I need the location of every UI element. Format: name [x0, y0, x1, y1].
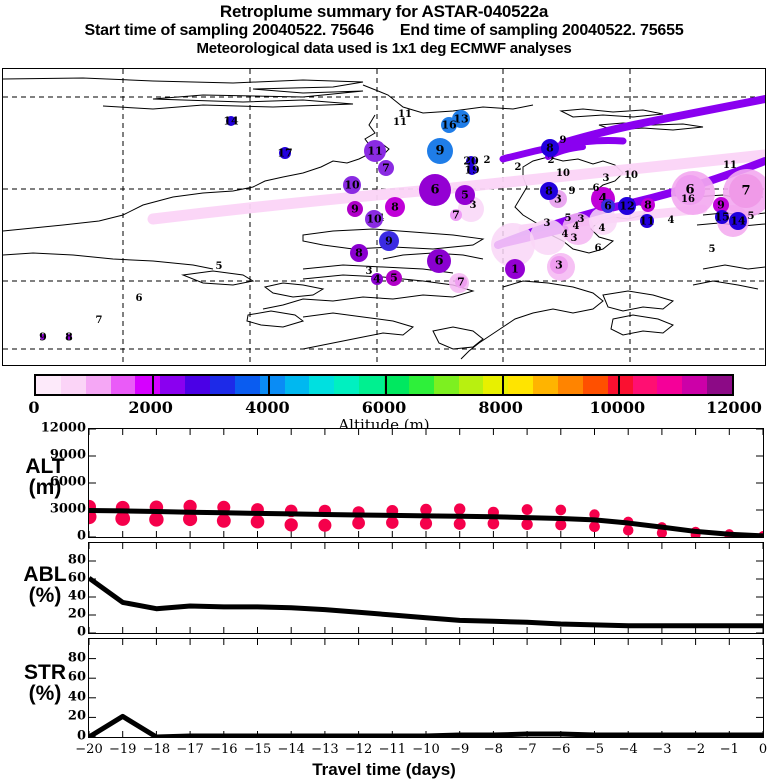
plume-marker-label: 16	[441, 120, 456, 131]
colorbar-segment	[111, 376, 136, 394]
y-axis-tick-label: 0	[77, 529, 86, 544]
plume-marker-label: 9	[717, 200, 725, 211]
colorbar-tick-label: 10000	[589, 398, 645, 417]
colorbar-segment	[533, 376, 558, 394]
plume-marker-label: 16	[681, 195, 695, 205]
plume-marker-label: 5	[216, 262, 223, 272]
plume-marker-label: 3	[571, 234, 578, 244]
colorbar-tick-label: 0	[28, 398, 39, 417]
plume-marker-label: 5	[565, 214, 572, 224]
y-axis-tick-label: 40	[68, 689, 86, 704]
timeseries-panels: ALT (m) ABL (%) STR (%) 0300060009000120…	[0, 424, 768, 768]
plume-marker-label: 7	[457, 277, 465, 288]
plume-marker-label: 6	[136, 294, 143, 304]
y-axis-tick-label: 12000	[41, 421, 86, 436]
plume-marker-label: 6	[595, 244, 602, 254]
x-axis-tick-label: −10	[412, 742, 439, 757]
x-axis-tick-label: −17	[176, 742, 203, 757]
plume-marker-label: 10	[624, 171, 638, 181]
y-axis-tick-label: 60	[68, 571, 86, 586]
y-axis-tick-label: 20	[68, 709, 86, 724]
colorbar-segment	[135, 376, 160, 394]
plume-marker-label: 5	[461, 190, 469, 201]
colorbar-segment	[459, 376, 484, 394]
y-axis-tick-label: 3000	[50, 502, 86, 517]
plume-marker-label: 11	[393, 118, 407, 128]
colorbar-segment	[285, 376, 310, 394]
x-axis-tick-label: −20	[75, 742, 102, 757]
colorbar-tick-label: 2000	[128, 398, 173, 417]
plume-marker-label: 9	[560, 136, 567, 146]
plume-marker-label: 1	[511, 264, 519, 275]
abl-chart[interactable]	[88, 542, 764, 634]
plume-marker-label: 7	[382, 163, 390, 174]
plume-marker-label: 4	[668, 216, 675, 226]
colorbar-segment	[583, 376, 608, 394]
colorbar-tick-label: 8000	[478, 398, 523, 417]
colorbar-tick-label: 6000	[362, 398, 407, 417]
plume-marker-label: 8	[355, 248, 363, 259]
colorbar-segment	[483, 376, 508, 394]
plume-marker-label: 3	[470, 201, 477, 211]
colorbar-segment	[508, 376, 533, 394]
plume-marker-label: 4	[373, 274, 381, 285]
plume-marker-label: 6	[593, 184, 600, 194]
y-axis-tick-label: 20	[68, 607, 86, 622]
x-axis-tick-label: −9	[450, 742, 469, 757]
x-axis-tick-label: −12	[345, 742, 372, 757]
plume-marker-label: 14	[223, 116, 238, 127]
x-axis-tick-label: −16	[210, 742, 237, 757]
plume-marker-label: 8	[391, 202, 399, 213]
colorbar-divider	[618, 376, 620, 394]
colorbar-segment	[657, 376, 682, 394]
x-axis-title: Travel time (days)	[0, 760, 768, 780]
plume-marker-label: 9	[385, 236, 393, 247]
plume-marker-label: 7	[452, 210, 460, 221]
plume-marker-label: 11	[723, 161, 737, 171]
plume-marker-label: 8	[546, 143, 554, 154]
plume-marker-label: 19	[464, 165, 479, 176]
colorbar-segment	[434, 376, 459, 394]
plume-marker-label: 8	[545, 186, 553, 197]
colorbar-segment	[384, 376, 409, 394]
plume-marker-label: 14	[730, 216, 745, 227]
altitude-colorbar: 020004000600080001000012000 Altitude (m)	[0, 372, 768, 424]
plume-marker-label: 3	[555, 260, 563, 271]
plume-marker-label: 3	[366, 267, 373, 277]
y-axis-tick-label: 80	[68, 650, 86, 665]
meteorology-label: Meteorological data used is 1x1 deg ECMW…	[0, 40, 768, 58]
plume-marker-label: 8	[65, 332, 73, 343]
colorbar-divider	[268, 376, 270, 394]
colorbar-segment	[260, 376, 285, 394]
plume-marker-label: 9	[435, 145, 444, 158]
plume-marker-label: 5	[390, 273, 398, 284]
x-axis-tick-label: −15	[244, 742, 271, 757]
colorbar-divider	[502, 376, 504, 394]
plume-marker-label: 9	[351, 204, 359, 215]
y-axis-tick-label: 6000	[50, 475, 86, 490]
plume-marker-label: 10	[556, 169, 570, 179]
plume-marker-label: 10	[366, 214, 381, 225]
colorbar-segment	[707, 376, 732, 394]
plume-marker-label: 3	[544, 219, 551, 229]
alt-plot-area	[89, 429, 763, 537]
plume-marker-label: 4	[599, 224, 606, 234]
y-axis-tick-label: 9000	[50, 448, 86, 463]
plume-marker-label: 11	[639, 216, 654, 227]
end-time-label: End time of sampling 20040522. 75655	[400, 22, 684, 39]
plume-marker-label: 6	[430, 184, 439, 197]
plume-marker-label: 17	[277, 148, 292, 159]
x-axis-tick-label: −3	[652, 742, 671, 757]
colorbar-segment	[409, 376, 434, 394]
y-axis-tick-label: 80	[68, 553, 86, 568]
plume-marker-label: 8	[644, 200, 652, 211]
plume-marker-label: 2	[515, 163, 522, 173]
plume-marker-label: 5	[748, 212, 755, 222]
colorbar-segment	[86, 376, 111, 394]
plume-marker-label: 2	[484, 156, 491, 166]
page-header: Retroplume summary for ASTAR-040522a Sta…	[0, 0, 768, 58]
plume-marker-label: 7	[741, 185, 750, 198]
plume-marker-label: 3	[603, 174, 610, 184]
str-chart[interactable]	[88, 638, 764, 738]
x-axis-tick-label: −4	[619, 742, 638, 757]
y-axis-tick-label: 40	[68, 589, 86, 604]
x-axis-ticklabels: −20−19−18−17−16−15−14−13−12−11−10−9−8−7−…	[0, 742, 768, 760]
x-axis-tick-label: −7	[518, 742, 537, 757]
x-axis-tick-label: −18	[143, 742, 170, 757]
colorbar-divider	[152, 376, 154, 394]
x-axis-tick-label: −5	[585, 742, 604, 757]
plume-marker-label: 7	[96, 316, 103, 326]
plume-marker-label: 11	[367, 146, 382, 157]
colorbar-segment	[334, 376, 359, 394]
x-axis-tick-label: −14	[277, 742, 304, 757]
plume-marker-label: 6	[434, 255, 443, 268]
alt-chart[interactable]	[88, 428, 764, 538]
y-axis-tick-label: 60	[68, 670, 86, 685]
plume-marker-label: 2	[548, 156, 555, 166]
plume-marker-label: 9	[39, 332, 47, 343]
start-time-label: Start time of sampling 20040522. 75646	[84, 22, 373, 39]
x-axis-tick-label: −19	[109, 742, 136, 757]
x-axis-tick-label: −6	[551, 742, 570, 757]
colorbar-segment	[682, 376, 707, 394]
colorbar-segment	[210, 376, 235, 394]
abl-plot-area	[89, 543, 763, 633]
plume-marker-label: 5	[709, 245, 716, 255]
sampling-times: Start time of sampling 20040522. 75646En…	[0, 21, 768, 40]
plume-marker-label: 3	[578, 215, 585, 225]
colorbar-divider	[385, 376, 387, 394]
colorbar-segment	[185, 376, 210, 394]
colorbar-segment	[359, 376, 384, 394]
colorbar-segment	[633, 376, 658, 394]
plume-marker-label: 15	[714, 212, 729, 223]
plume-marker-label: 10	[344, 180, 359, 191]
colorbar-segment	[61, 376, 86, 394]
retroplume-map[interactable]: 1417111113161197102019269853744322368912…	[2, 68, 766, 366]
colorbar-tick-label: 4000	[245, 398, 290, 417]
plume-marker-label: 4	[562, 230, 569, 240]
x-axis-tick-label: −11	[379, 742, 406, 757]
colorbar-segment	[558, 376, 583, 394]
plume-marker-label: 9	[569, 187, 576, 197]
str-plot-area	[89, 639, 763, 737]
plume-marker-label: 6	[604, 201, 612, 212]
x-axis-tick-label: −2	[686, 742, 705, 757]
x-axis-tick-label: −8	[484, 742, 503, 757]
page-title: Retroplume summary for ASTAR-040522a	[0, 2, 768, 21]
x-axis-tick-label: −1	[720, 742, 739, 757]
colorbar-strip[interactable]	[34, 374, 734, 396]
x-axis-tick-label: 0	[759, 742, 767, 757]
colorbar-segment	[160, 376, 185, 394]
plume-marker-label: 12	[619, 201, 634, 212]
colorbar-segment	[309, 376, 334, 394]
colorbar-segment	[235, 376, 260, 394]
x-axis-tick-label: −13	[311, 742, 338, 757]
colorbar-tick-label: 12000	[706, 398, 762, 417]
colorbar-segment	[36, 376, 61, 394]
y-axis-tick-label: 0	[77, 625, 86, 640]
